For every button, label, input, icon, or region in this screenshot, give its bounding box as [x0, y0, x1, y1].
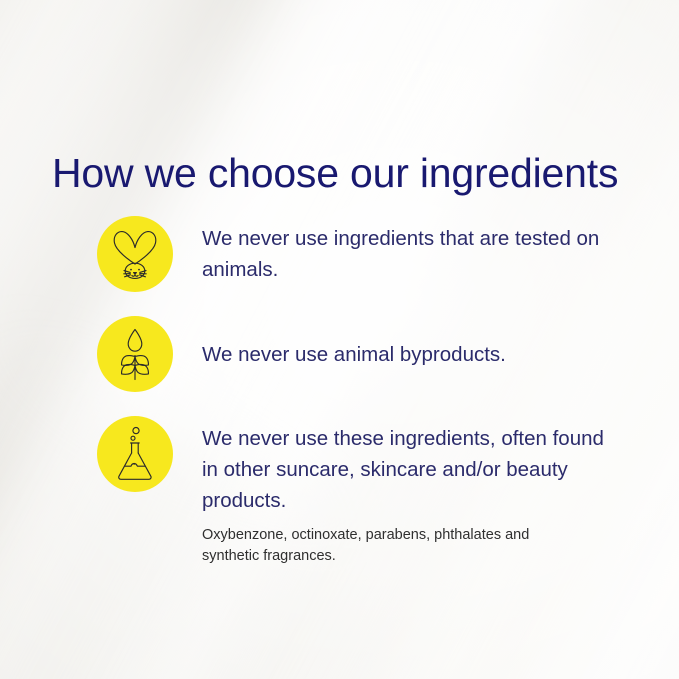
icon-badge-vegan [97, 316, 173, 392]
icon-badge-no-chemicals [97, 416, 173, 492]
claim-note: Oxybenzone, octinoxate, parabens, phthal… [202, 525, 572, 567]
list-item: We never use animal byproducts. [97, 316, 506, 392]
icon-badge-cruelty-free [97, 216, 173, 292]
list-item: We never use ingredients that are tested… [97, 216, 602, 292]
claim-statement: We never use ingredients that are tested… [202, 223, 602, 285]
plant-sprout-icon [112, 327, 158, 381]
claim-statement: We never use these ingredients, often fo… [202, 423, 614, 516]
bunny-heart-ears-icon [109, 227, 161, 281]
content-layer: How we choose our ingredients [0, 0, 679, 679]
claim-statement: We never use animal byproducts. [202, 339, 506, 370]
claim-text-block: We never use these ingredients, often fo… [202, 416, 614, 567]
list-item: We never use these ingredients, often fo… [97, 416, 614, 567]
erlenmeyer-flask-icon [112, 426, 158, 482]
claim-text-block: We never use animal byproducts. [202, 316, 506, 370]
claim-text-block: We never use ingredients that are tested… [202, 216, 602, 285]
marketing-graphic: How we choose our ingredients [0, 0, 679, 679]
page-title: How we choose our ingredients [52, 148, 618, 198]
